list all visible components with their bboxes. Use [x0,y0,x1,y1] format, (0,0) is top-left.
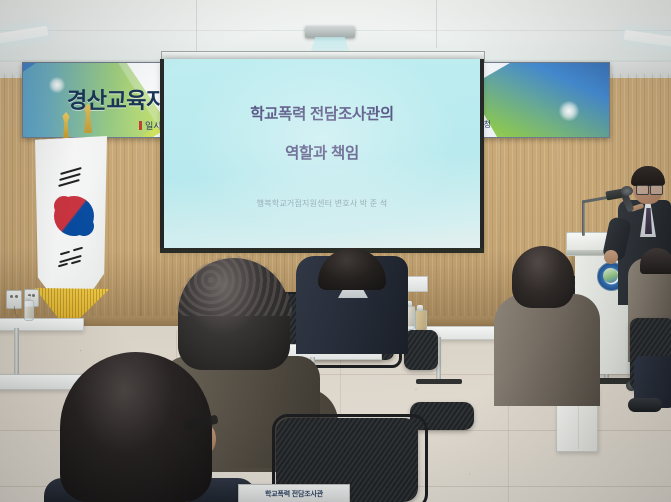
microphone-icon [621,186,633,196]
audience-member-right-shoe [628,398,662,412]
banner-date-bullet [139,121,142,130]
table-base [416,379,462,384]
slide-title-line-2: 역할과 책임 [163,141,481,163]
speaker-glasses-left [636,185,649,195]
speaker-hand [604,250,618,264]
gooseneck-microphone-stem [582,200,585,236]
audience-member-far-center-body [494,294,600,406]
chair-backrest [404,330,438,370]
projector-icon [305,26,355,38]
lectern-emblem-inner [603,268,618,283]
conference-room-photo: 경산교육지원청 역량강화 연수 일시: 20 경산교육지원청 학교폭력 전담조사… [0,0,671,502]
table-left-far [0,318,84,331]
screen-frame-bottom [160,248,484,253]
slide-title-line-1: 학교폭력 전담조사관의 [163,102,481,124]
banner-sparkle-left [49,77,65,93]
ceiling-seam-vertical-right [436,0,437,48]
desk-name-card: 학교폭력 전담조사관 [238,484,350,502]
table-leg [14,328,19,380]
speaker-glasses-right [650,185,663,195]
beverage-bottle [415,310,427,331]
audience-member-far-center-head [512,246,574,308]
bottle-cap [26,296,31,301]
desk-name-card-text: 학교폭력 전담조사관 [265,489,323,499]
water-bottle [24,300,34,321]
bottle-cap [417,305,423,311]
slide-presenter: 행복학교거점지원센터 변호사 박 준 석 [163,198,481,209]
audience-member-right-head [640,248,671,274]
